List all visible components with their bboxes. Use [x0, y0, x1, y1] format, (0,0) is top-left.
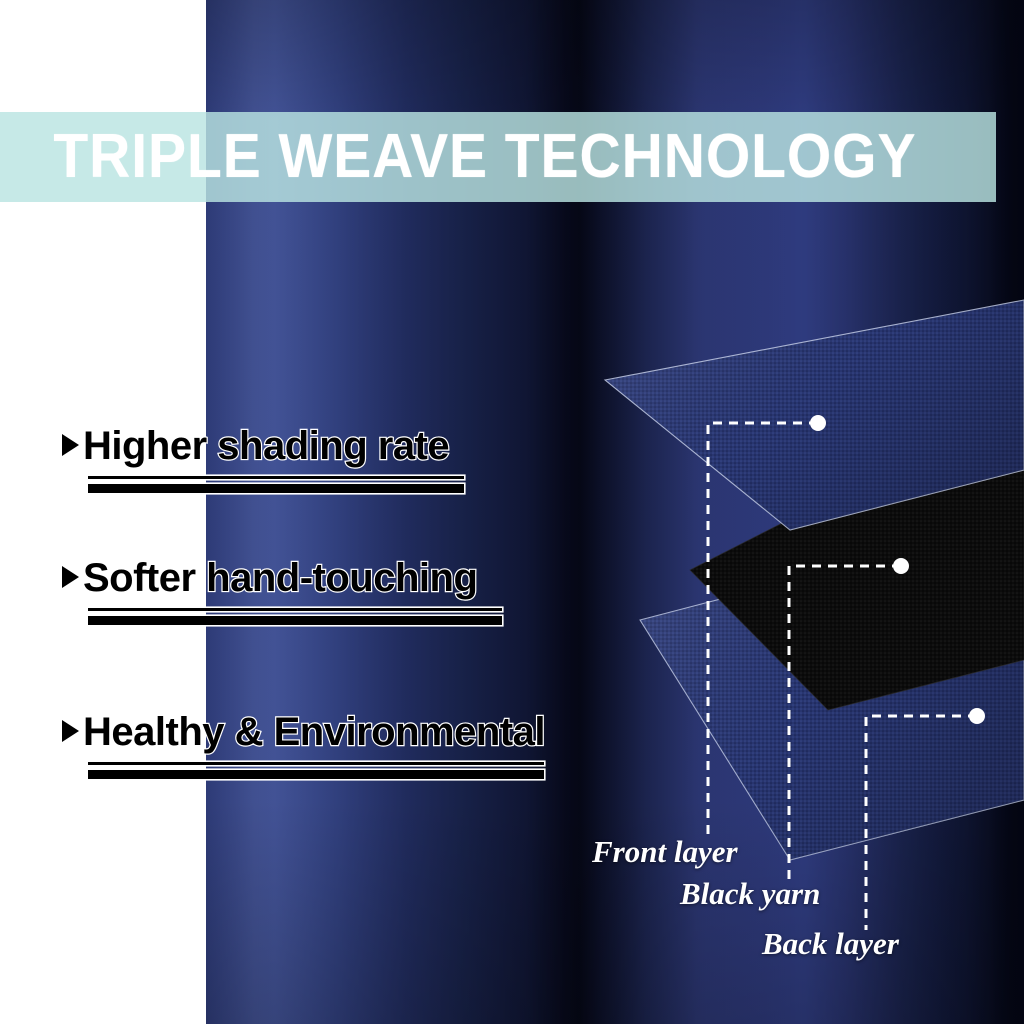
layer-label-back: Back layer — [762, 926, 899, 962]
underline-thin-rule — [88, 762, 544, 765]
feature-underline — [88, 476, 464, 493]
feature-label: Softer hand-touching — [83, 556, 477, 601]
feature-row: Higher shading rate — [62, 424, 702, 469]
underline-thin-rule — [88, 476, 464, 479]
underline-thin-rule — [88, 608, 502, 611]
underline-thick-rule — [88, 484, 464, 493]
layer-label-front: Front layer — [592, 834, 738, 870]
banner-title: TRIPLE WEAVE TECHNOLOGY — [0, 126, 916, 188]
triangle-right-icon — [62, 434, 79, 456]
layer-label-black-yarn: Black yarn — [680, 876, 820, 912]
feature-row: Healthy & Environmental — [62, 710, 702, 755]
triangle-right-icon — [62, 566, 79, 588]
headline-banner: TRIPLE WEAVE TECHNOLOGY — [0, 112, 996, 202]
triangle-right-icon — [62, 720, 79, 742]
feature-label: Healthy & Environmental — [83, 710, 545, 755]
underline-thick-rule — [88, 616, 502, 625]
feature-item-higher-shading-rate: Higher shading rate — [62, 424, 702, 493]
feature-item-healthy-environmental: Healthy & Environmental — [62, 710, 702, 779]
feature-underline — [88, 608, 502, 625]
product-infographic: TRIPLE WEAVE TECHNOLOGY Higher shading r… — [0, 0, 1024, 1024]
feature-item-softer-hand-touching: Softer hand-touching — [62, 556, 702, 625]
feature-row: Softer hand-touching — [62, 556, 702, 601]
underline-thick-rule — [88, 770, 544, 779]
feature-label: Higher shading rate — [83, 424, 449, 469]
feature-underline — [88, 762, 544, 779]
